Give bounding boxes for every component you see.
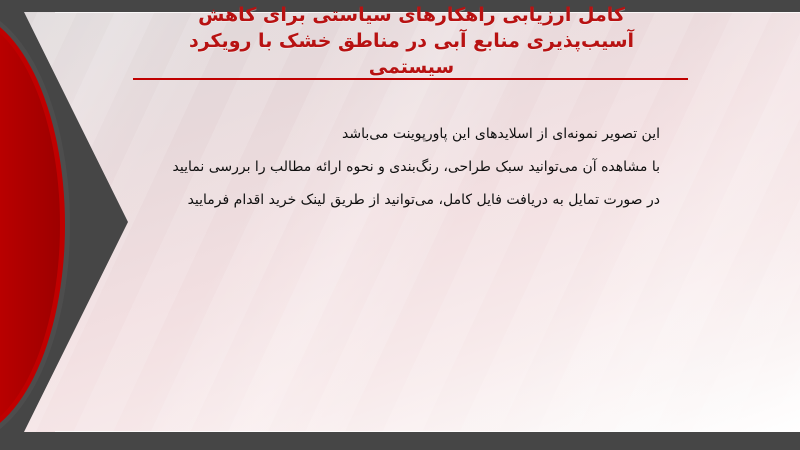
red-ellipse-shading [0, 16, 60, 434]
title-line-2: آسیب‌پذیری منابع آبی در مناطق خشک با روی… [135, 28, 688, 54]
slide-title: کامل ارزیابی راهکارهای سیاستی برای کاهش … [135, 2, 688, 80]
body-line-3: در صورت تمایل به دریافت فایل کامل، می‌تو… [120, 184, 660, 217]
red-ellipse-decoration [0, 6, 70, 444]
title-line-1: کامل ارزیابی راهکارهای سیاستی برای کاهش [135, 2, 688, 28]
slide-body-text: این تصویر نمونه‌ای از اسلایدهای این پاور… [120, 118, 660, 217]
title-line-3: سیستمی [135, 54, 688, 80]
body-line-1: این تصویر نمونه‌ای از اسلایدهای این پاور… [120, 118, 660, 151]
title-underline-rule [133, 78, 688, 80]
red-ellipse-shape [0, 6, 70, 444]
body-line-2: با مشاهده آن می‌توانید سبک طراحی، رنگ‌بن… [120, 151, 660, 184]
presentation-slide: کامل ارزیابی راهکارهای سیاستی برای کاهش … [0, 0, 800, 450]
panel-bottom-edge-line [55, 431, 800, 432]
